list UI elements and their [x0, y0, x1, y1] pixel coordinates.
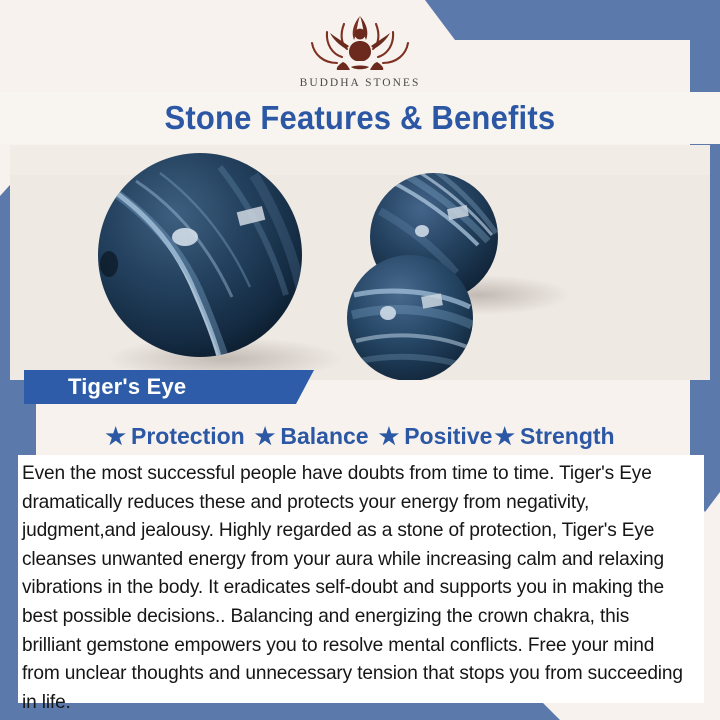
star-icon: ★: [494, 425, 515, 448]
benefit-label: Strength: [520, 423, 615, 450]
benefit-label: Balance: [280, 423, 368, 450]
stone-photo-image: [10, 145, 710, 380]
star-icon: ★: [255, 425, 276, 448]
description-text: Even the most successful people have dou…: [22, 459, 686, 716]
poster-root: BUDDHA STONES Stone Features & Benefits: [0, 0, 720, 720]
lotus-meditation-icon: [296, 12, 424, 74]
page-title: Stone Features & Benefits: [165, 99, 556, 137]
stone-name-banner: Tiger's Eye: [24, 370, 314, 404]
benefit-strength: ★ Strength: [494, 423, 614, 450]
star-icon: ★: [105, 425, 126, 448]
stone-photo: [10, 145, 710, 380]
benefit-label: Positive: [404, 423, 492, 450]
star-icon: ★: [379, 425, 400, 448]
benefit-protection: ★ Protection: [105, 423, 244, 450]
stone-name: Tiger's Eye: [68, 374, 186, 400]
benefit-label: Protection: [131, 423, 245, 450]
title-band: Stone Features & Benefits: [0, 92, 720, 144]
brand-name: BUDDHA STONES: [300, 77, 421, 89]
benefit-balance: ★ Balance: [255, 423, 369, 450]
benefits-row: ★ Protection ★ Balance ★ Positive ★ Stre…: [0, 418, 720, 454]
brand-logo: BUDDHA STONES: [0, 12, 720, 89]
description-panel: Even the most successful people have dou…: [18, 455, 704, 703]
benefit-positive: ★ Positive: [379, 423, 493, 450]
